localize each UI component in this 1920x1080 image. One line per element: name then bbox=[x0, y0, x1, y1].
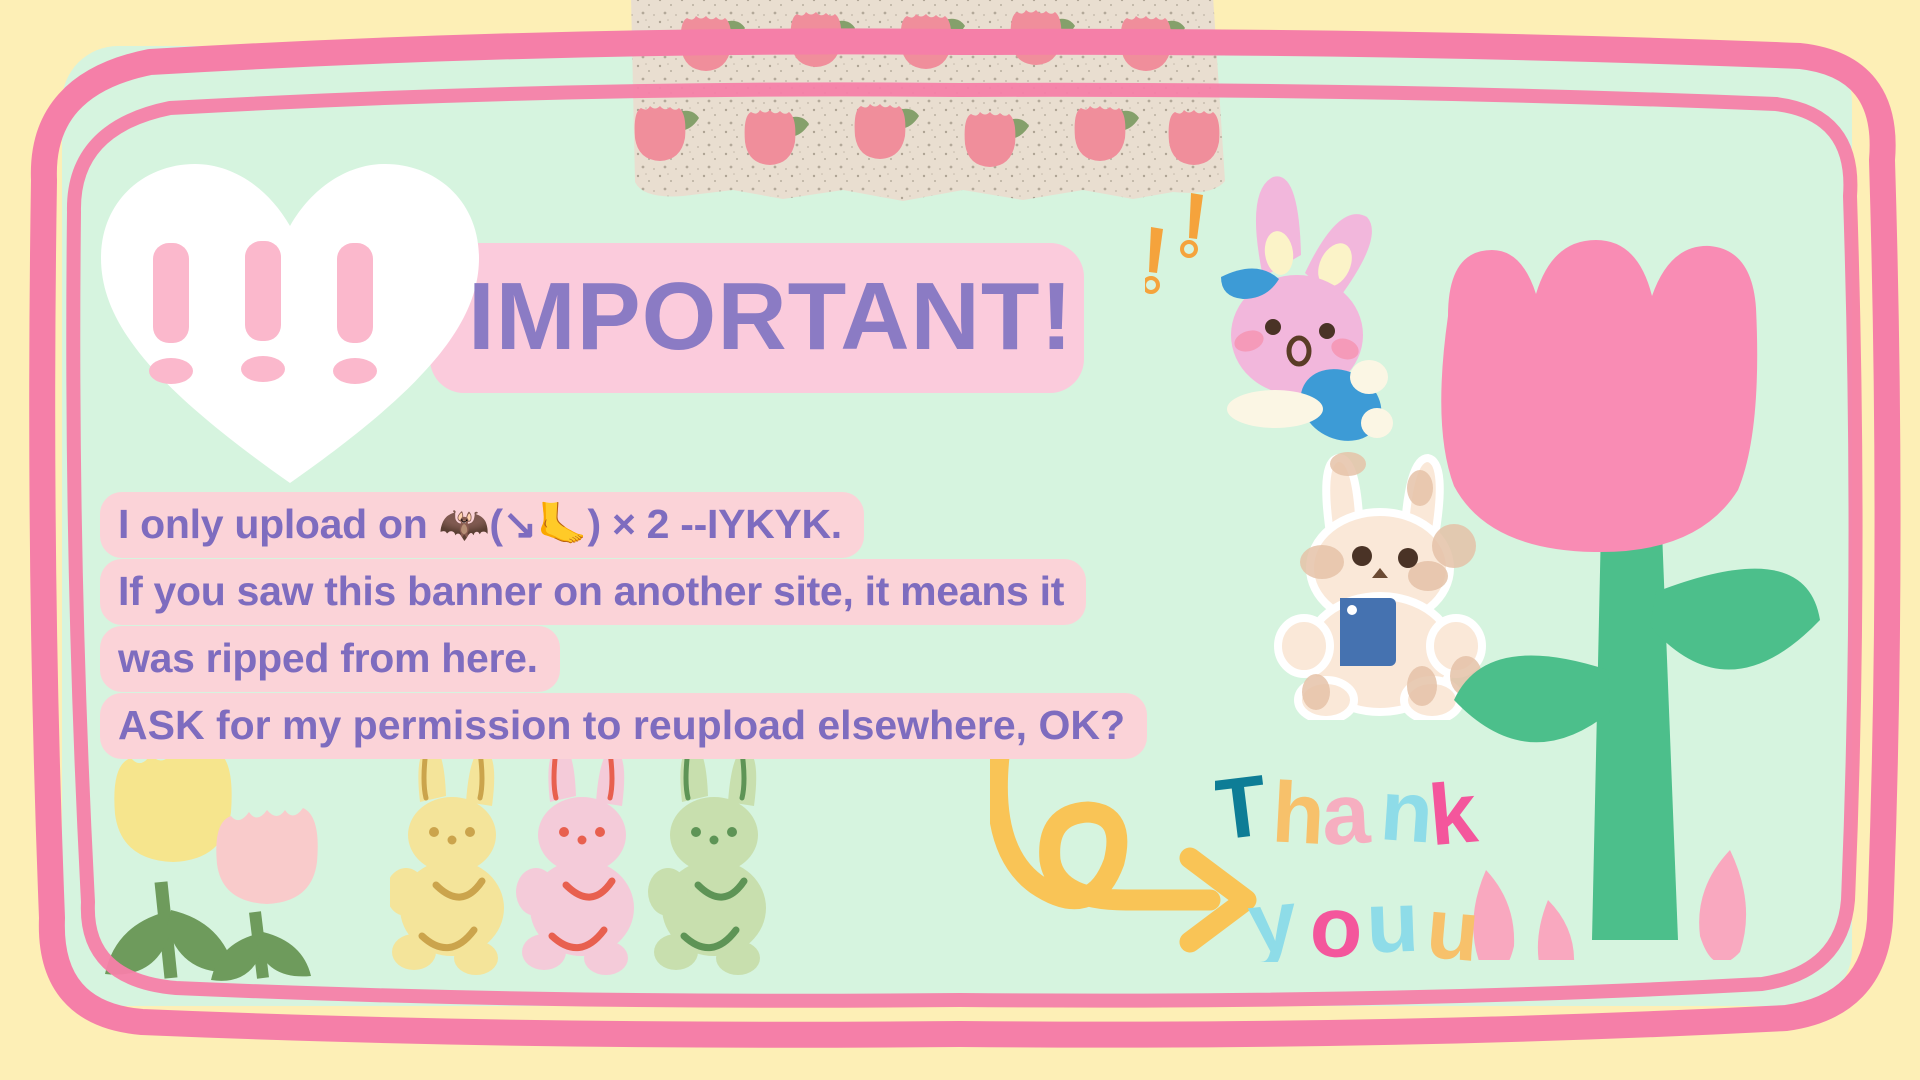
svg-text:y: y bbox=[1244, 872, 1302, 962]
body-line-4: ASK for my permission to reupload elsewh… bbox=[100, 693, 1147, 759]
body-line-2: If you saw this banner on another site, … bbox=[100, 559, 1086, 625]
body-line-3: was ripped from here. bbox=[100, 626, 560, 692]
svg-text:k: k bbox=[1425, 764, 1481, 864]
washi-tape-tulip-pattern bbox=[613, 0, 1233, 218]
svg-text:h: h bbox=[1270, 764, 1327, 863]
tulip-pair-icon bbox=[95, 752, 345, 982]
thank-you-lettering: T h a n k y o u u bbox=[1215, 752, 1515, 962]
svg-text:T: T bbox=[1215, 757, 1272, 859]
exclamation-marks bbox=[149, 241, 377, 384]
page-title: IMPORTANT! bbox=[468, 262, 1073, 372]
svg-text:o: o bbox=[1308, 878, 1365, 962]
body-line-1: I only upload on 🦇(↘🦶) × 2 --IYKYK. bbox=[100, 492, 864, 558]
heart-icon bbox=[95, 148, 485, 488]
body-text-block: I only upload on 🦇(↘🦶) × 2 --IYKYK. If y… bbox=[100, 492, 1147, 760]
svg-text:u: u bbox=[1423, 880, 1484, 962]
banner-canvas: IMPORTANT! I only upload on 🦇(↘🦶) × 2 --… bbox=[0, 0, 1920, 1080]
svg-text:u: u bbox=[1365, 874, 1421, 962]
svg-text:a: a bbox=[1319, 765, 1373, 863]
gummy-bunny-icon bbox=[390, 740, 810, 990]
